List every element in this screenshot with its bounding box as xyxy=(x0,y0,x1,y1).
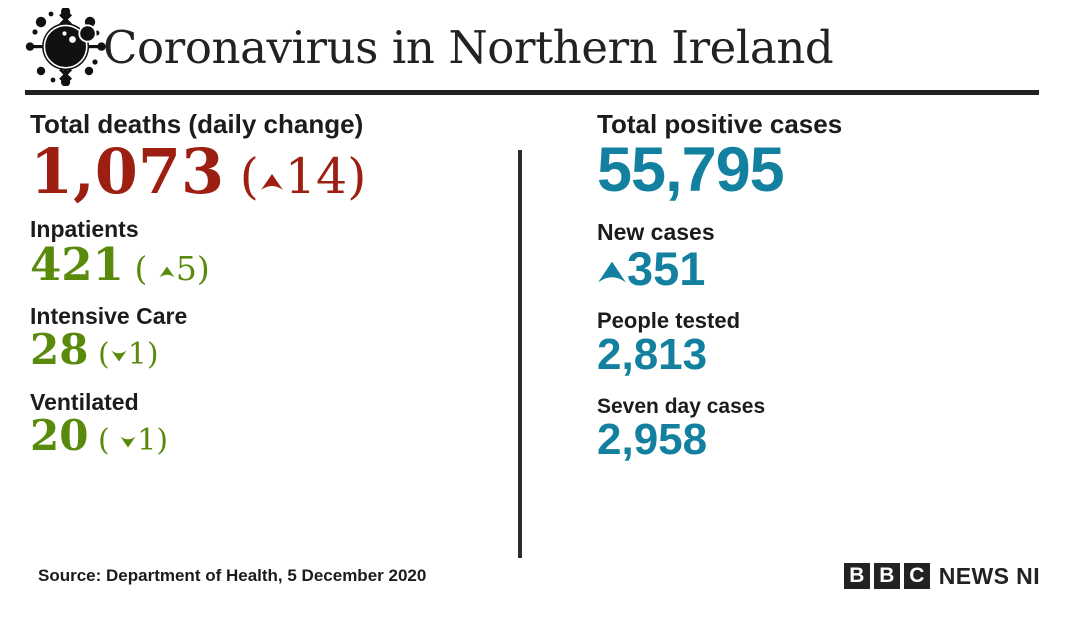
arrow-up-icon xyxy=(158,264,176,280)
bbc-news-ni-logo: B B C NEWS NI xyxy=(844,563,1040,589)
people-tested-number: 2,813 xyxy=(597,330,707,379)
paren-open: ( xyxy=(134,249,147,288)
coronavirus-icon xyxy=(25,8,107,86)
stat-value-inpatients: 421 ( 5) xyxy=(30,242,500,288)
stat-value-ventilated: 20 ( 1) xyxy=(30,415,500,458)
right-stats-column: Total positive cases 55,795 New cases 35… xyxy=(597,110,1037,463)
paren-close: ) xyxy=(156,423,168,458)
stat-inpatients: Inpatients 421 ( 5) xyxy=(30,217,500,288)
bbc-logo-letter-1: B xyxy=(844,563,870,589)
bbc-logo-letter-3: C xyxy=(904,563,930,589)
stat-value-total-deaths: 1,073 (14) xyxy=(30,140,500,203)
source-note: Source: Department of Health, 5 December… xyxy=(38,566,426,586)
stat-value-new-cases: 351 xyxy=(597,245,1037,293)
intensive-care-delta-value: 1 xyxy=(128,337,147,372)
page-title: Coronavirus in Northern Ireland xyxy=(103,25,833,70)
seven-day-cases-number: 2,958 xyxy=(597,415,707,464)
new-cases-number: 351 xyxy=(627,242,705,295)
left-stats-column: Total deaths (daily change) 1,073 (14) I… xyxy=(30,110,500,457)
stat-seven-day-cases: Seven day cases 2,958 xyxy=(597,396,1037,464)
stat-label-total-positive-cases: Total positive cases xyxy=(597,110,1037,138)
ventilated-delta-value: 1 xyxy=(137,423,156,458)
arrow-up-icon xyxy=(259,171,285,193)
total-deaths-number: 1,073 xyxy=(30,135,224,208)
stat-value-total-positive-cases: 55,795 xyxy=(597,138,1037,202)
inpatients-delta: ( 5) xyxy=(124,249,210,288)
total-deaths-delta-value: 14 xyxy=(285,148,347,205)
stat-value-intensive-care: 28 (1) xyxy=(30,329,500,372)
inpatients-number: 421 xyxy=(30,238,124,291)
arrow-up-icon xyxy=(597,259,627,285)
ventilated-number: 20 xyxy=(30,411,88,460)
stat-ventilated: Ventilated 20 ( 1) xyxy=(30,390,500,458)
header: Coronavirus in Northern Ireland xyxy=(25,8,1040,86)
paren-open: ( xyxy=(98,423,110,458)
stat-label-intensive-care: Intensive Care xyxy=(30,304,500,329)
stat-total-deaths: Total deaths (daily change) 1,073 (14) xyxy=(30,110,500,203)
column-divider xyxy=(518,150,522,558)
paren-close: ) xyxy=(147,337,159,372)
bbc-logo-letter-2: B xyxy=(874,563,900,589)
inpatients-delta-value: 5 xyxy=(176,249,197,288)
stat-value-seven-day-cases: 2,958 xyxy=(597,418,1037,463)
coronavirus-infographic: Coronavirus in Northern Ireland Total de… xyxy=(0,0,1066,633)
stat-label-total-deaths: Total deaths (daily change) xyxy=(30,110,500,138)
stat-new-cases: New cases 351 xyxy=(597,220,1037,293)
paren-open: ( xyxy=(240,148,259,205)
stat-intensive-care: Intensive Care 28 (1) xyxy=(30,304,500,372)
stat-value-people-tested: 2,813 xyxy=(597,333,1037,378)
paren-close: ) xyxy=(347,148,366,205)
paren-open: ( xyxy=(98,337,110,372)
stat-people-tested: People tested 2,813 xyxy=(597,309,1037,378)
ventilated-delta: ( 1) xyxy=(88,423,168,458)
arrow-down-icon xyxy=(119,434,137,450)
bbc-logo-text: NEWS NI xyxy=(939,563,1040,589)
total-deaths-delta: (14) xyxy=(224,148,366,205)
paren-close: ) xyxy=(197,249,210,288)
intensive-care-number: 28 xyxy=(30,325,88,374)
arrow-down-icon xyxy=(110,348,128,364)
total-positive-cases-number: 55,795 xyxy=(597,135,784,205)
bbc-logo-blocks: B B C xyxy=(844,563,930,589)
header-divider-rule xyxy=(25,90,1039,95)
intensive-care-delta: (1) xyxy=(88,337,158,372)
stat-label-ventilated: Ventilated xyxy=(30,390,500,415)
stat-total-positive-cases: Total positive cases 55,795 xyxy=(597,110,1037,202)
